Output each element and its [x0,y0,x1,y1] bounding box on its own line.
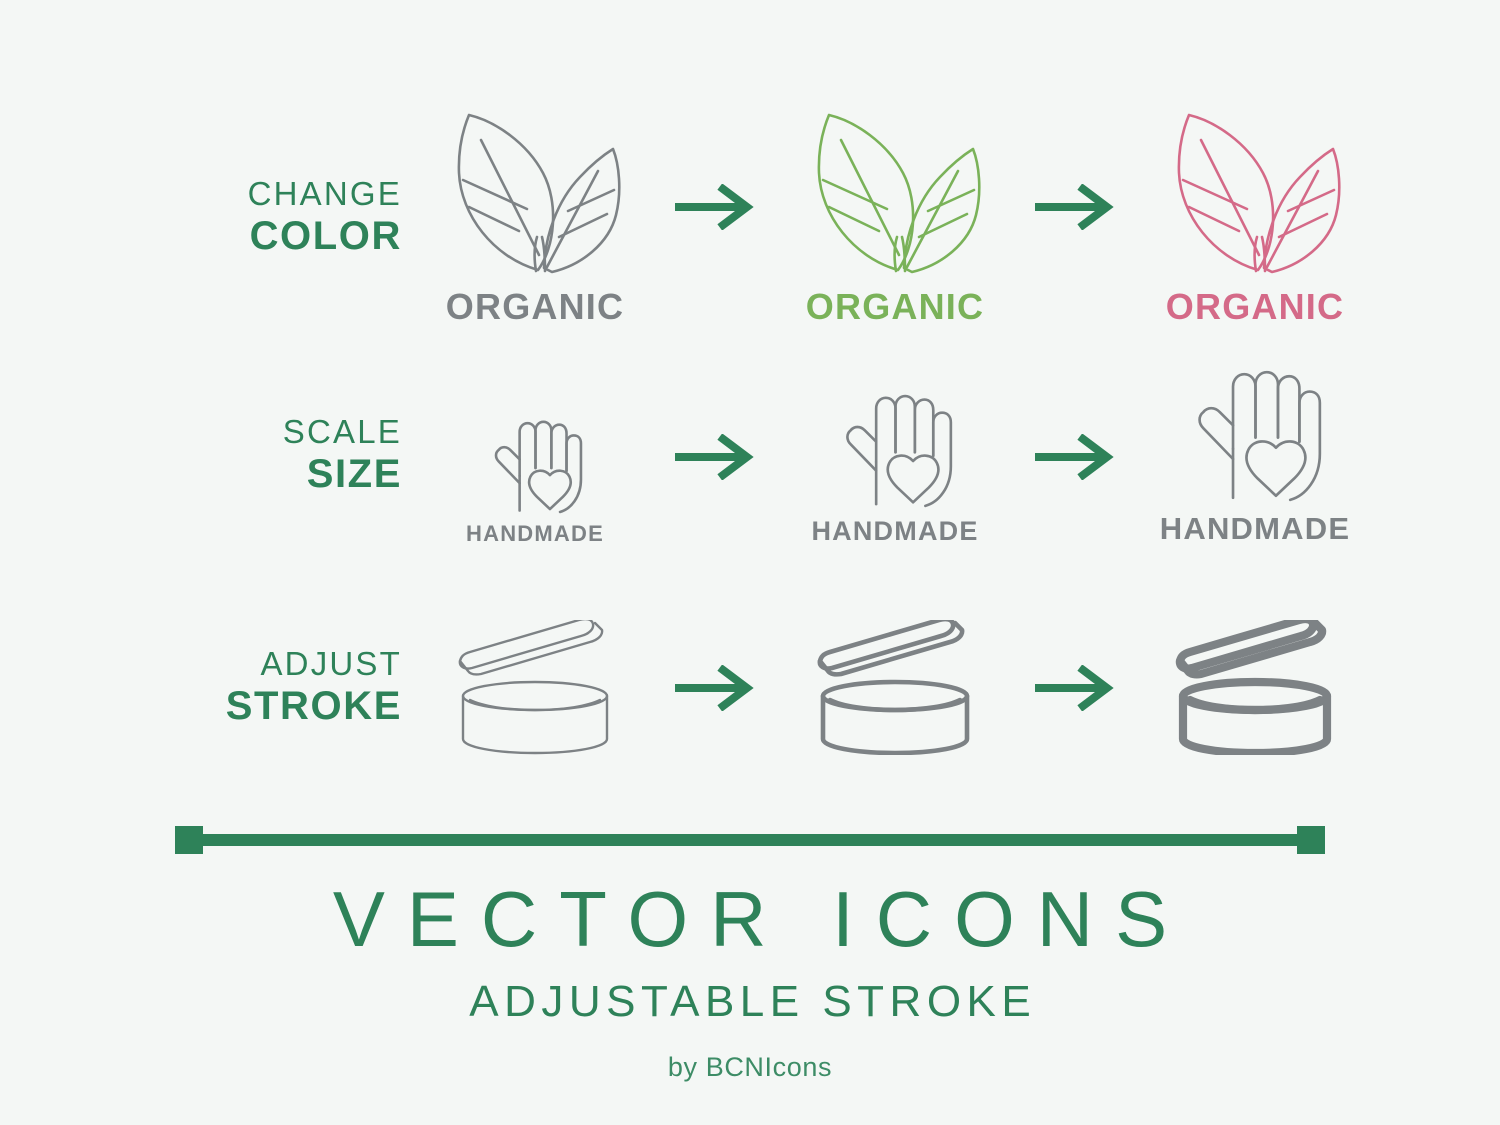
row-label-top: CHANGE [0,175,402,213]
arrow-right-icon [675,184,755,230]
handmade-icon-small[interactable]: HANDMADE [410,416,660,547]
icon-caption: HANDMADE [811,516,978,547]
heart-icon [529,470,571,508]
arrow-right-icon [1035,184,1115,230]
arrow-right-icon [1035,434,1115,480]
divider-line [189,834,1311,846]
cosmetic-jar-icon [1168,620,1343,755]
cosmetic-jar-icon [808,620,983,755]
heart-icon [887,455,938,502]
poster-canvas: CHANGE COLOR [0,0,1500,1125]
arrow-right-4 [1020,367,1130,547]
leaves-icon [435,107,635,282]
divider-bar [175,826,1325,854]
icon-caption: HANDMADE [466,521,604,547]
organic-icon-grey[interactable]: ORGANIC [410,107,660,328]
row-scale-size: SCALE SIZE HANDMADE [0,350,1500,560]
row-label-bottom: COLOR [0,213,402,259]
icon-caption: ORGANIC [1166,286,1344,328]
arrow-right-1 [660,107,770,307]
arrow-right-6 [1020,608,1130,768]
heart-icon [1246,441,1305,495]
organic-icon-pink[interactable]: ORGANIC [1130,107,1380,328]
row-change-color: CHANGE COLOR [0,105,1500,330]
arrow-right-2 [1020,107,1130,307]
row-items-scale-size: HANDMADE [410,364,1500,547]
jar-icon-thick[interactable] [1130,620,1380,755]
row-items-adjust-stroke [410,608,1500,768]
hand-heart-icon [485,416,586,517]
handmade-icon-medium[interactable]: HANDMADE [770,389,1020,547]
handmade-icon-large[interactable]: HANDMADE [1130,364,1380,547]
leaves-icon [1155,107,1355,282]
arrow-right-icon [675,434,755,480]
jar-icon-medium[interactable] [770,620,1020,755]
page-subtitle: ADJUSTABLE STROKE [0,980,1500,1024]
page-title: VECTOR ICONS [0,880,1500,958]
organic-icon-green[interactable]: ORGANIC [770,107,1020,328]
leaves-icon [795,107,995,282]
row-label-adjust-stroke: ADJUST STROKE [0,645,410,730]
row-label-bottom: SIZE [0,451,402,497]
footer: VECTOR ICONS ADJUSTABLE STROKE by BCNIco… [0,880,1500,1081]
hand-heart-icon [1184,364,1327,507]
row-label-scale-size: SCALE SIZE [0,413,410,498]
arrow-right-5 [660,608,770,768]
hand-heart-icon [834,389,957,512]
row-adjust-stroke: ADJUST STROKE [0,595,1500,780]
row-label-top: ADJUST [0,645,402,683]
icon-caption: HANDMADE [1160,511,1350,547]
icon-caption: ORGANIC [446,286,624,328]
row-label-top: SCALE [0,413,402,451]
jar-icon-thin[interactable] [410,620,660,755]
arrow-right-icon [1035,665,1115,711]
arrow-right-icon [675,665,755,711]
row-items-change-color: ORGANIC [410,107,1500,328]
row-label-bottom: STROKE [0,683,402,729]
row-label-change-color: CHANGE COLOR [0,175,410,260]
byline: by BCNIcons [0,1054,1500,1081]
arrow-right-3 [660,367,770,547]
cosmetic-jar-icon [448,620,623,755]
icon-caption: ORGANIC [806,286,984,328]
